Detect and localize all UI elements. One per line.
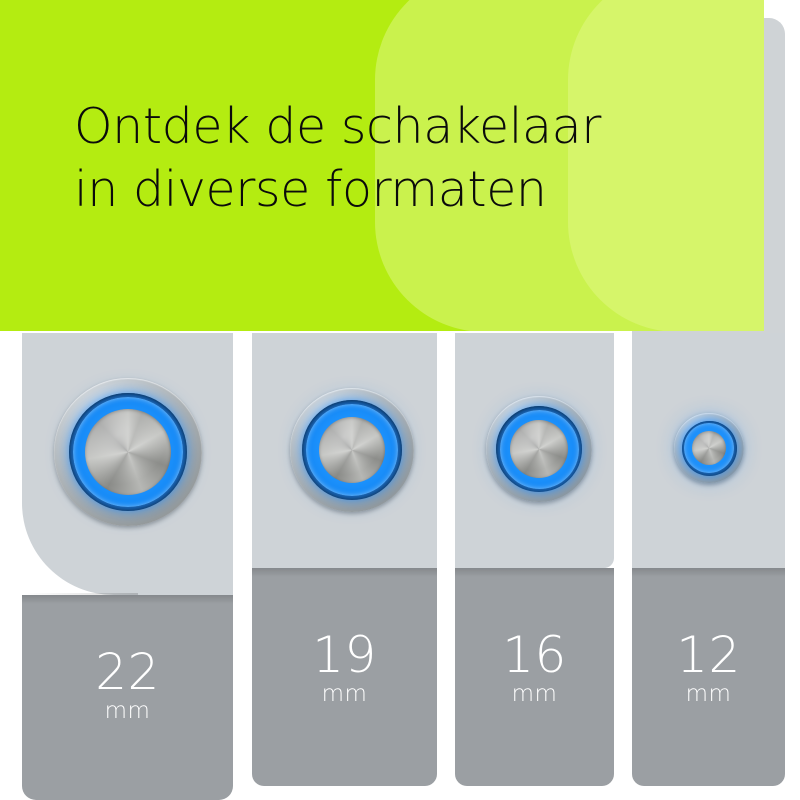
- size-label-panel: 22 mm: [22, 595, 233, 800]
- size-value: 19: [252, 630, 437, 680]
- pushbutton-16mm[interactable]: [486, 396, 592, 502]
- pushbutton-12mm[interactable]: [674, 413, 744, 483]
- size-label-panel: 19 mm: [252, 568, 437, 786]
- headline-line-1: Ontdek de schakelaar: [74, 96, 734, 159]
- product-photo-panel: [455, 333, 614, 568]
- headline-line-2: in diverse formaten: [74, 159, 734, 222]
- size-label-22mm: 22 mm: [22, 647, 233, 726]
- size-label-16mm: 16 mm: [455, 630, 614, 709]
- size-unit: mm: [252, 680, 437, 709]
- size-column-19mm[interactable]: 19 mm: [252, 333, 437, 786]
- size-value: 12: [632, 630, 785, 680]
- size-label-panel: 16 mm: [455, 568, 614, 786]
- product-photo-panel: [252, 333, 437, 568]
- pushbutton-19mm[interactable]: [290, 388, 414, 512]
- size-unit: mm: [22, 697, 233, 726]
- button-metal-cap: [319, 417, 385, 483]
- size-unit: mm: [632, 680, 785, 709]
- button-metal-cap: [510, 420, 568, 478]
- product-photo-panel: [22, 333, 233, 595]
- promo-banner: Ontdek de schakelaar in diverse formaten…: [0, 0, 800, 800]
- button-metal-cap: [85, 409, 171, 495]
- size-label-12mm: 12 mm: [632, 630, 785, 709]
- pushbutton-22mm[interactable]: [54, 378, 202, 526]
- size-label-panel: 12 mm: [632, 568, 785, 786]
- size-value: 16: [455, 630, 614, 680]
- size-column-12mm[interactable]: 12 mm: [632, 333, 785, 786]
- size-columns: 22 mm 19 mm: [0, 333, 800, 800]
- size-column-16mm[interactable]: 16 mm: [455, 333, 614, 786]
- size-value: 22: [22, 647, 233, 697]
- product-photo-panel: [632, 333, 785, 568]
- size-column-22mm[interactable]: 22 mm: [22, 333, 233, 800]
- button-metal-cap: [692, 431, 726, 465]
- page-title: Ontdek de schakelaar in diverse formaten: [74, 96, 734, 221]
- size-label-19mm: 19 mm: [252, 630, 437, 709]
- size-unit: mm: [455, 680, 614, 709]
